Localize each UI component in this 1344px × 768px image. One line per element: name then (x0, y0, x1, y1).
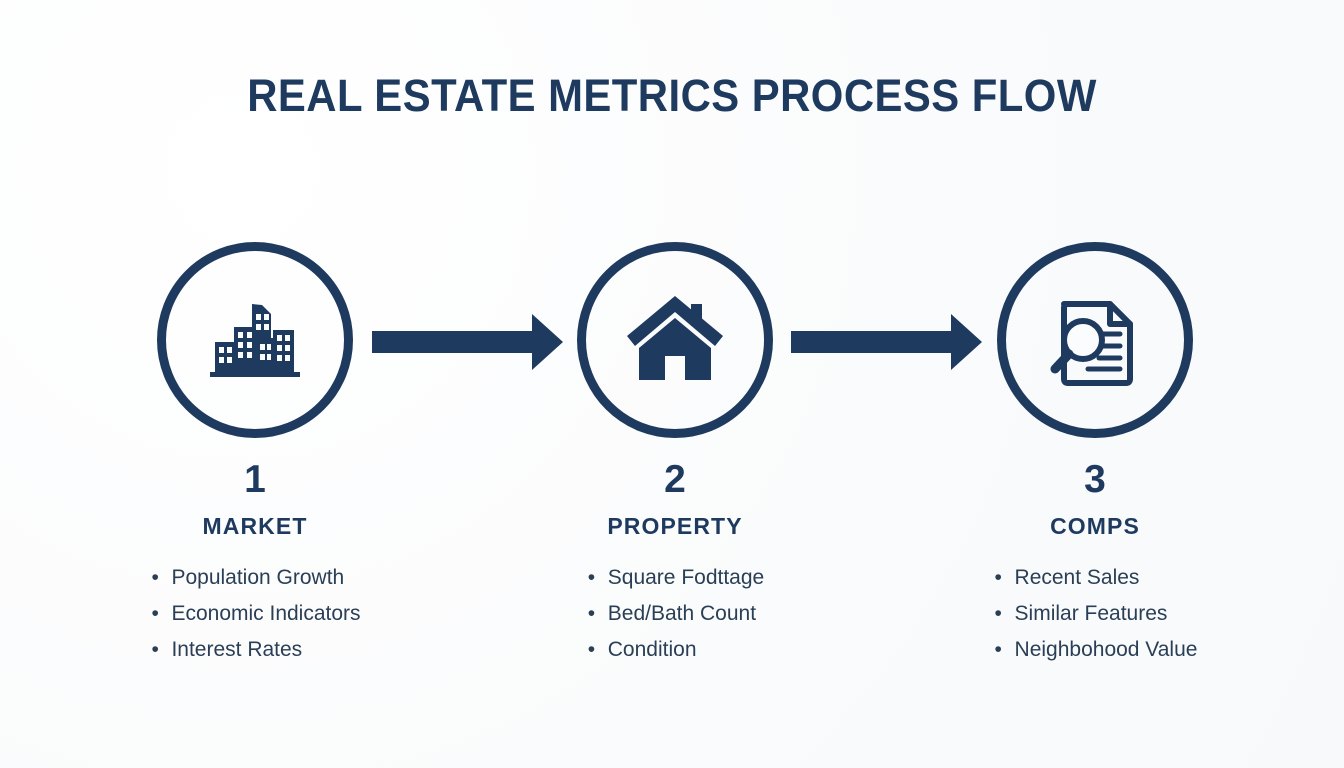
page-title: REAL ESTATE METRICS PROCESS FLOW (47, 70, 1297, 122)
list-item: Square Fodttage (586, 560, 764, 596)
step-label: PROPERTY (505, 515, 845, 538)
process-step-comps: 3 COMPS Recent Sales Similar Features Ne… (925, 240, 1265, 668)
list-item: Recent Sales (993, 560, 1198, 596)
step-icon-circle (577, 242, 773, 438)
step-bullet-list: Recent Sales Similar Features Neighbohoo… (993, 560, 1198, 668)
list-item: Population Growth (149, 560, 360, 596)
step-label: MARKET (85, 515, 425, 538)
process-step-market: 1 MARKET Population Growth Economic Indi… (85, 240, 425, 668)
step-bullet-list: Population Growth Economic Indicators In… (149, 560, 360, 668)
process-step-property: 2 PROPERTY Square Fodttage Bed/Bath Coun… (505, 240, 845, 668)
list-item: Economic Indicators (149, 596, 360, 632)
step-number: 2 (505, 460, 845, 499)
infographic-canvas: REAL ESTATE METRICS PROCESS FLOW (0, 0, 1344, 768)
step-number: 3 (925, 460, 1265, 499)
step-icon-circle-wrapper (925, 240, 1265, 440)
list-item: Neighbohood Value (993, 632, 1198, 668)
list-item: Bed/Bath Count (586, 596, 764, 632)
document-search-icon (1042, 287, 1148, 393)
list-item: Interest Rates (149, 632, 360, 668)
step-icon-circle (997, 242, 1193, 438)
city-buildings-icon (201, 286, 309, 394)
list-item: Similar Features (993, 596, 1198, 632)
house-icon (623, 292, 727, 388)
step-number: 1 (85, 460, 425, 499)
list-item: Condition (586, 632, 764, 668)
step-bullet-list: Square Fodttage Bed/Bath Count Condition (586, 560, 764, 668)
step-label: COMPS (925, 515, 1265, 538)
step-icon-circle (157, 242, 353, 438)
